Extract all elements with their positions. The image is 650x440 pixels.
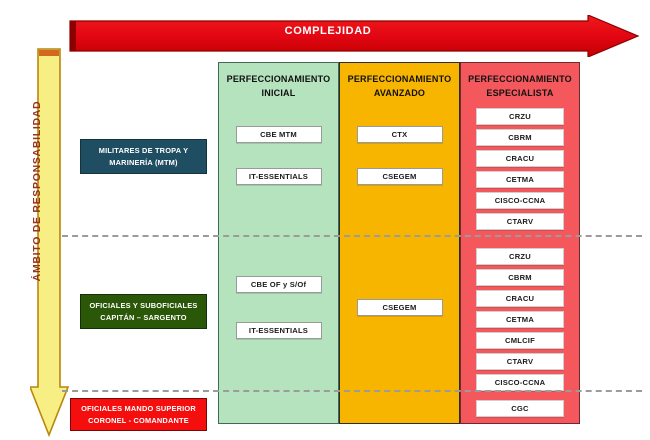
course-chip[interactable]: CTARV bbox=[476, 353, 564, 370]
course-chip[interactable]: CETMA bbox=[476, 171, 564, 188]
role-badge-mando-superior[interactable]: OFICIALES MANDO SUPERIOR CORONEL - COMAN… bbox=[70, 398, 207, 431]
role-badge-oficiales[interactable]: OFICIALES Y SUBOFICIALES CAPITÁN – SARGE… bbox=[80, 294, 207, 329]
column-header-especialista-line1: PERFECCIONAMIENTO bbox=[468, 74, 572, 84]
course-chip[interactable]: IT-ESSENTIALS bbox=[236, 168, 322, 185]
course-chip[interactable]: CISCO-CCNA bbox=[476, 374, 564, 391]
column-header-inicial: PERFECCIONAMIENTO INICIAL bbox=[222, 72, 335, 100]
course-chip[interactable]: CSEGEM bbox=[357, 299, 443, 316]
responsibility-arrow bbox=[30, 47, 70, 437]
role-badge-tropa[interactable]: MILITARES DE TROPA Y MARINERÍA (MTM) bbox=[80, 139, 207, 174]
course-chip[interactable]: CMLCIF bbox=[476, 332, 564, 349]
course-chip[interactable]: CTX bbox=[357, 126, 443, 143]
band-divider bbox=[62, 390, 642, 392]
column-header-inicial-line1: PERFECCIONAMIENTO bbox=[227, 74, 331, 84]
role-badge-oficiales-line2: CAPITÁN – SARGENTO bbox=[100, 312, 186, 324]
role-badge-tropa-line2: MARINERÍA (MTM) bbox=[109, 157, 177, 169]
course-chip[interactable]: CSEGEM bbox=[357, 168, 443, 185]
course-chip[interactable]: CETMA bbox=[476, 311, 564, 328]
column-header-avanzado-line2: AVANZADO bbox=[374, 88, 425, 98]
course-chip[interactable]: CBRM bbox=[476, 269, 564, 286]
column-perfeccionamiento-especialista: PERFECCIONAMIENTO ESPECIALISTA CRZU CBRM… bbox=[460, 62, 580, 424]
band-divider bbox=[62, 235, 642, 237]
complexity-arrow bbox=[68, 15, 640, 57]
course-chip[interactable]: CRZU bbox=[476, 108, 564, 125]
column-perfeccionamiento-avanzado: PERFECCIONAMIENTO AVANZADO CTX CSEGEM CS… bbox=[339, 62, 460, 424]
column-header-especialista: PERFECCIONAMIENTO ESPECIALISTA bbox=[464, 72, 576, 100]
column-header-especialista-line2: ESPECIALISTA bbox=[486, 88, 553, 98]
role-badge-mando-line1: OFICIALES MANDO SUPERIOR bbox=[81, 403, 196, 415]
course-chip[interactable]: CBRM bbox=[476, 129, 564, 146]
course-chip[interactable]: CRZU bbox=[476, 248, 564, 265]
role-badge-mando-line2: CORONEL - COMANDANTE bbox=[88, 415, 189, 427]
column-header-avanzado-line1: PERFECCIONAMIENTO bbox=[348, 74, 452, 84]
course-chip[interactable]: IT-ESSENTIALS bbox=[236, 322, 322, 339]
role-badge-tropa-line1: MILITARES DE TROPA Y bbox=[99, 145, 189, 157]
role-badge-oficiales-line1: OFICIALES Y SUBOFICIALES bbox=[89, 300, 197, 312]
column-header-inicial-line2: INICIAL bbox=[262, 88, 296, 98]
course-chip[interactable]: CISCO-CCNA bbox=[476, 192, 564, 209]
course-chip[interactable]: CRACU bbox=[476, 150, 564, 167]
column-perfeccionamiento-inicial: PERFECCIONAMIENTO INICIAL CBE MTM IT-ESS… bbox=[218, 62, 339, 424]
course-chip[interactable]: CBE OF y S/Of bbox=[236, 276, 322, 293]
course-chip[interactable]: CBE MTM bbox=[236, 126, 322, 143]
course-chip[interactable]: CGC bbox=[476, 400, 564, 417]
column-header-avanzado: PERFECCIONAMIENTO AVANZADO bbox=[343, 72, 456, 100]
course-chip[interactable]: CRACU bbox=[476, 290, 564, 307]
course-chip[interactable]: CTARV bbox=[476, 213, 564, 230]
